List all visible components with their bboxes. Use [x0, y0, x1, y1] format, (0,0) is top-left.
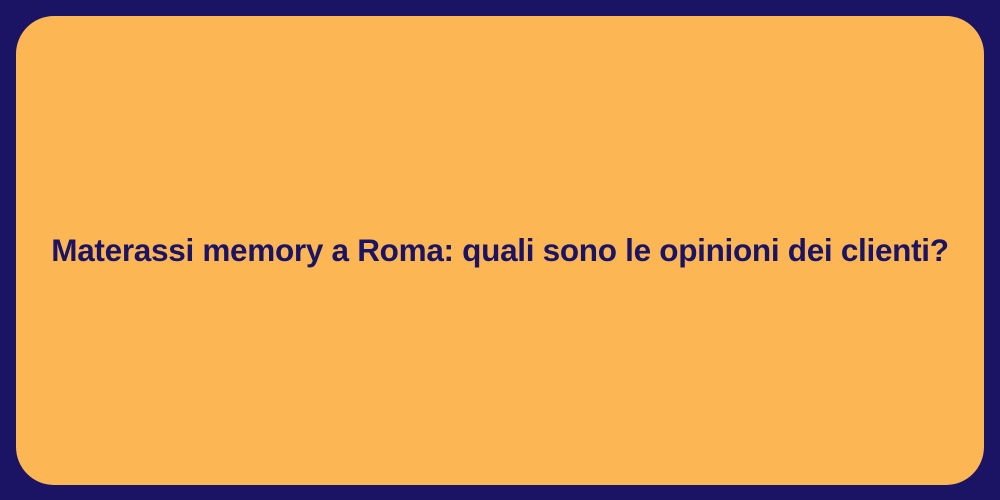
page-title: Materassi memory a Roma: quali sono le o…: [21, 231, 978, 270]
banner-frame: Materassi memory a Roma: quali sono le o…: [0, 0, 1000, 500]
banner-panel: Materassi memory a Roma: quali sono le o…: [16, 16, 984, 485]
